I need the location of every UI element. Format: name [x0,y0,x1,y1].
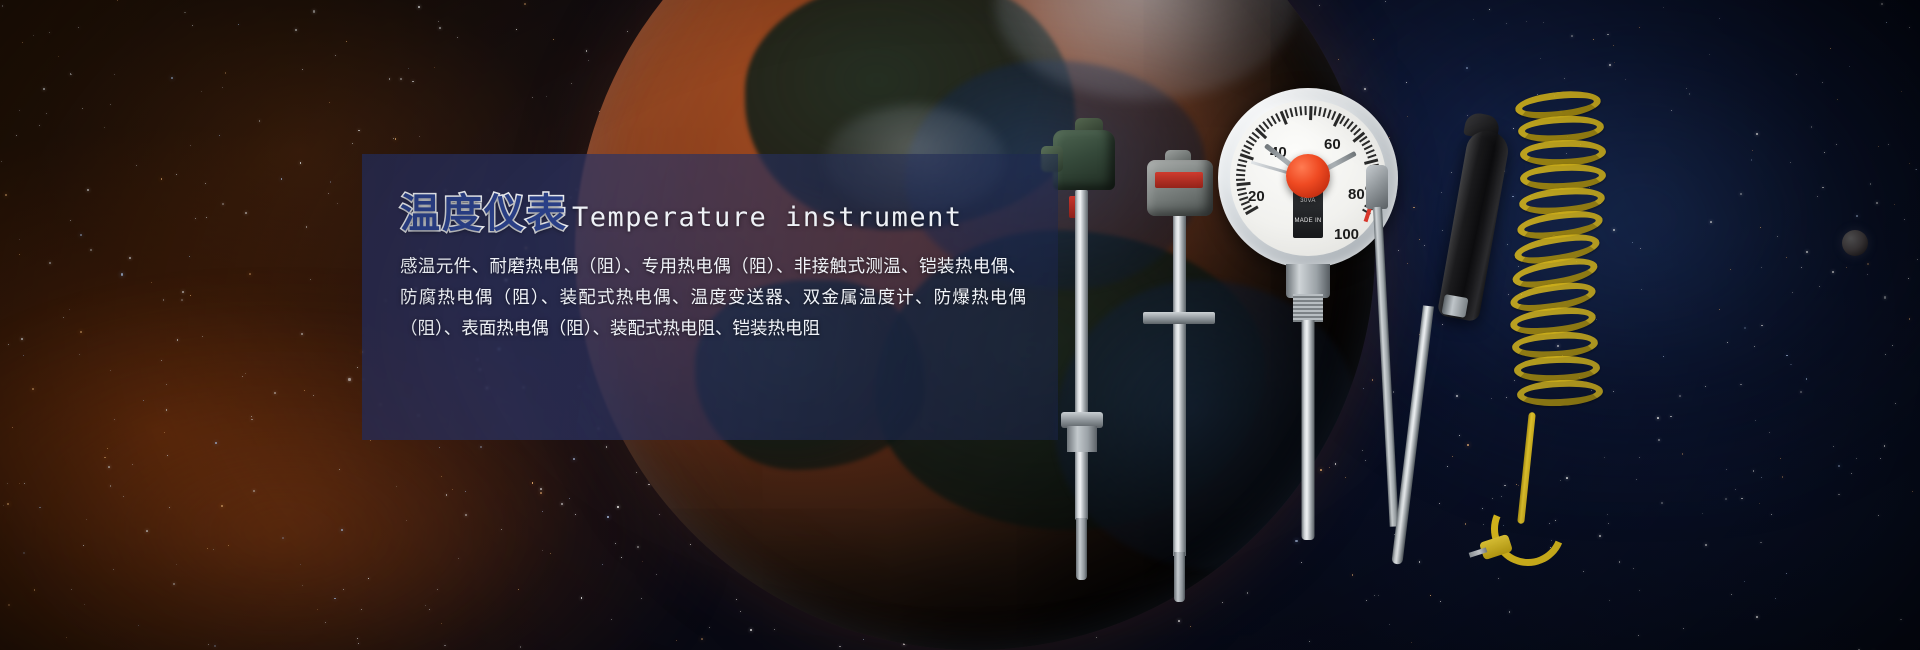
handheld-probe-with-coiled-cable [1395,120,1635,570]
star [66,637,67,638]
gauge-stem [1302,320,1315,540]
star [1540,58,1541,59]
gauge-tick [1236,179,1245,181]
gauge-tick [1236,174,1245,176]
cable-loop [1516,378,1603,408]
gauge-power-label: 30VA [1300,198,1315,204]
star [1378,595,1379,596]
star [79,354,80,355]
star [58,56,59,57]
probe-tip [1174,552,1185,602]
probe-stem [1075,190,1088,520]
star [1837,99,1838,100]
star [310,279,311,280]
star [1775,598,1776,599]
gauge-tick [1238,192,1247,196]
star [1498,578,1499,579]
star [1473,19,1474,20]
star [1856,458,1857,459]
gauge-tick [1236,182,1250,186]
star [452,489,453,490]
star [176,564,177,565]
star [132,464,133,465]
star [84,604,85,605]
star [419,136,420,137]
star [1917,259,1918,260]
gauge-origin-label: MADE IN [1294,218,1321,224]
star [1467,115,1468,116]
gauge-neck [1286,264,1330,298]
probe-tip [1076,518,1087,580]
star [3,505,4,506]
gauge-number-100: 100 [1334,226,1359,243]
gauge-tick [1318,107,1322,116]
product-banner: WSS 20 40 60 80 100 380V 30VA MADE IN [0,0,1920,650]
small-moon-icon [1842,230,1868,256]
star [46,113,47,114]
star [1663,7,1664,8]
star [329,102,330,103]
star [328,193,329,194]
star [1878,146,1879,147]
star [1506,23,1507,24]
star [1867,274,1868,275]
star [1543,22,1544,23]
gauge-tick [1294,107,1298,116]
gauge-tick [1309,106,1312,120]
star [393,138,394,139]
star [546,96,547,97]
star [1641,289,1642,290]
star [1792,292,1793,293]
star [465,491,466,492]
star [425,605,426,606]
star [1636,479,1637,480]
star [1526,21,1527,22]
gauge-tick [1314,106,1317,115]
straight-surface-probe [1358,165,1398,565]
star [429,609,430,610]
star [1796,74,1797,75]
star [1909,163,1910,164]
star [69,309,70,310]
gauge-tick [1237,164,1246,168]
star [441,476,442,477]
star [406,520,407,521]
probe-nameplate [1155,172,1203,188]
star [164,432,165,433]
handle-grip [1437,128,1511,322]
probe-head [1366,165,1388,209]
gauge-number-20: 20 [1248,188,1265,205]
star [337,203,338,204]
star [302,69,303,70]
star [542,511,543,512]
star [1709,54,1710,55]
gauge-tick [1299,106,1302,115]
star [571,83,572,84]
star [1822,82,1823,83]
probe-stem [1391,305,1434,564]
star [408,68,409,69]
star [151,282,152,283]
star [501,529,502,530]
star [19,483,20,484]
star [195,218,196,219]
gauge-tick [1236,169,1245,172]
star [437,589,438,590]
assembled-thermocouple-grey-head [1135,160,1225,580]
star [19,239,20,240]
star [1915,169,1916,170]
star [1639,27,1640,28]
gauge-tick [1238,159,1247,163]
probe-head [1147,160,1213,216]
star [104,127,105,128]
star [1836,144,1837,145]
banner-title-row: 温度仪表 Temperature instrument [400,194,1030,234]
banner-description: 感温元件、耐磨热电偶（阻）、专用热电偶（阻）、非接触式测温、铠装热电偶、防腐热电… [400,252,1026,345]
gauge-red-center-cap [1286,154,1330,198]
star [63,317,64,318]
star [1639,590,1640,591]
star [1719,18,1720,19]
probe-stem [1173,216,1186,556]
page-title-english: Temperature instrument [572,204,963,234]
star [1385,1,1386,2]
probe-flange [1143,312,1215,324]
star [1752,150,1753,151]
star [22,42,23,43]
star [396,486,397,487]
probe-nut [1067,426,1097,452]
star [1904,219,1905,220]
star [1786,257,1787,258]
star [1702,513,1703,514]
star [110,104,111,105]
gauge-thread [1293,294,1323,322]
star [138,625,139,626]
gauge-tick [1284,109,1289,118]
banner-text-panel: 温度仪表 Temperature instrument 感温元件、耐磨热电偶（阻… [362,154,1058,440]
gauge-tick [1323,108,1327,117]
page-title-chinese: 温度仪表 [400,194,568,234]
cable-bend [1480,481,1576,577]
star [458,558,459,559]
handle-ferrule [1441,294,1468,318]
gauge-tick [1304,106,1306,115]
gauge-number-60: 60 [1324,136,1341,153]
star [1389,624,1390,625]
star [7,483,8,484]
coiled-cable [1515,92,1635,422]
star [542,550,543,551]
gauge-tick [1237,188,1246,191]
gauge-tick [1289,108,1293,117]
